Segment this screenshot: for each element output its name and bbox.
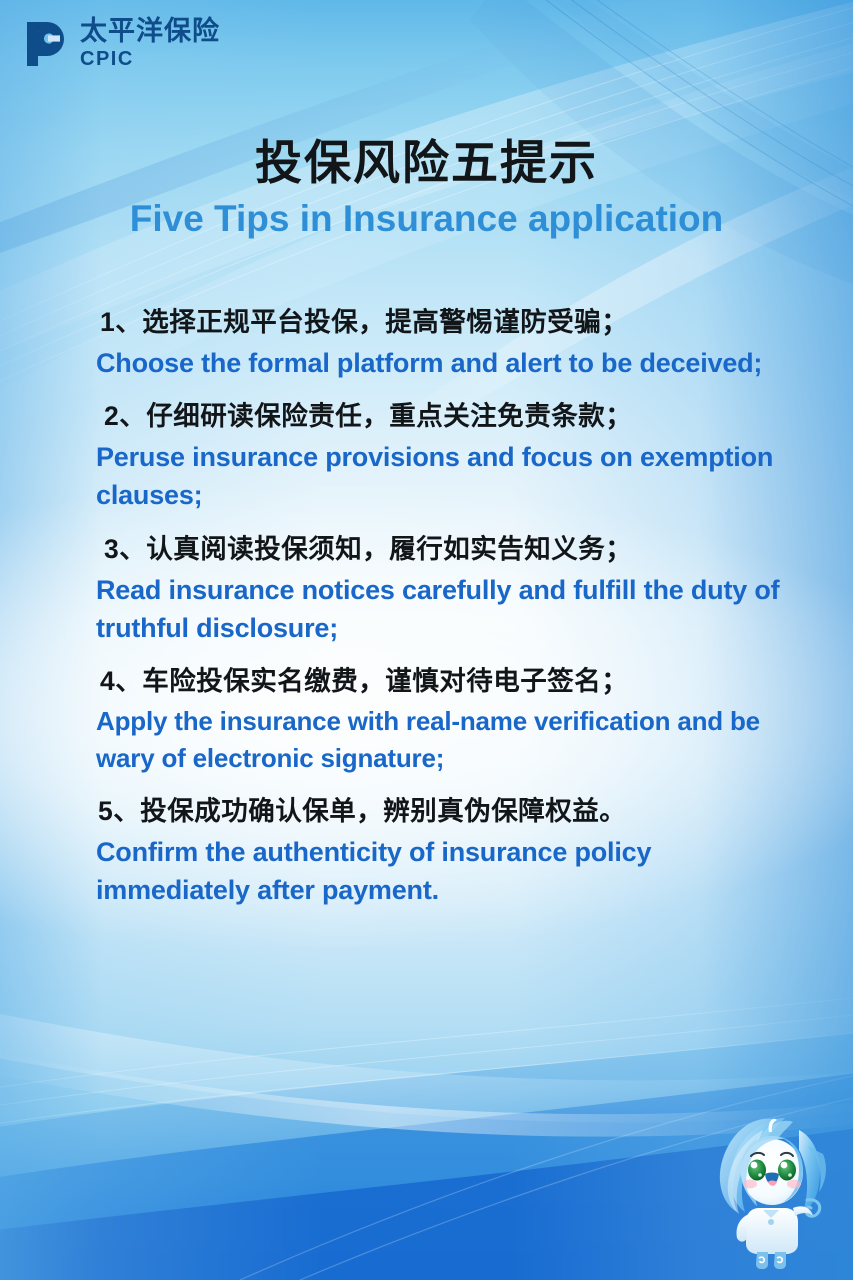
- tip-text-en: Confirm the authenticity of insurance po…: [96, 833, 796, 910]
- mascot-body: [737, 1206, 814, 1269]
- tip-text-en: Choose the formal platform and alert to …: [96, 344, 796, 382]
- tip-text-cn: 2、仔细研读保险责任，重点关注免责条款；: [104, 400, 796, 434]
- brand-wordmark: 太平洋保险 CPIC: [80, 18, 220, 69]
- tip-item: 4、车险投保实名缴费，谨慎对待电子签名； Apply the insurance…: [96, 665, 796, 777]
- insurance-tips-poster: 太平洋保险 CPIC 投保风险五提示 Five Tips in Insuranc…: [0, 0, 853, 1280]
- tip-text-cn: 4、车险投保实名缴费，谨慎对待电子签名；: [100, 665, 796, 699]
- page-title-en: Five Tips in Insurance application: [0, 197, 853, 241]
- tip-item: 5、投保成功确认保单，辨别真伪保障权益。 Confirm the authent…: [96, 795, 796, 910]
- tip-text-en: Read insurance notices carefully and ful…: [96, 571, 796, 648]
- cpic-mascot-icon: [707, 1112, 835, 1272]
- tip-text-cn: 5、投保成功确认保单，辨别真伪保障权益。: [98, 795, 796, 829]
- tip-text-en: Peruse insurance provisions and focus on…: [96, 438, 796, 515]
- tips-list: 1、选择正规平台投保，提高警惕谨防受骗； Choose the formal p…: [96, 306, 796, 910]
- brand-name-en: CPIC: [80, 49, 220, 69]
- tip-item: 1、选择正规平台投保，提高警惕谨防受骗； Choose the formal p…: [96, 306, 796, 382]
- brand-name-cn: 太平洋保险: [80, 18, 220, 45]
- tip-text-cn: 1、选择正规平台投保，提高警惕谨防受骗；: [100, 306, 796, 340]
- brand-logo: 太平洋保险 CPIC: [24, 18, 220, 69]
- page-title-cn: 投保风险五提示: [0, 136, 853, 191]
- tip-item: 2、仔细研读保险责任，重点关注免责条款； Peruse insurance pr…: [96, 400, 796, 515]
- cpic-p-logo-icon: [24, 20, 70, 68]
- tip-text-cn: 3、认真阅读投保须知，履行如实告知义务；: [104, 533, 796, 567]
- mascot-head: [741, 1136, 803, 1205]
- poster-title-block: 投保风险五提示 Five Tips in Insurance applicati…: [0, 136, 853, 241]
- tip-text-en: Apply the insurance with real-name verif…: [96, 703, 796, 777]
- tip-item: 3、认真阅读投保须知，履行如实告知义务； Read insurance noti…: [96, 533, 796, 648]
